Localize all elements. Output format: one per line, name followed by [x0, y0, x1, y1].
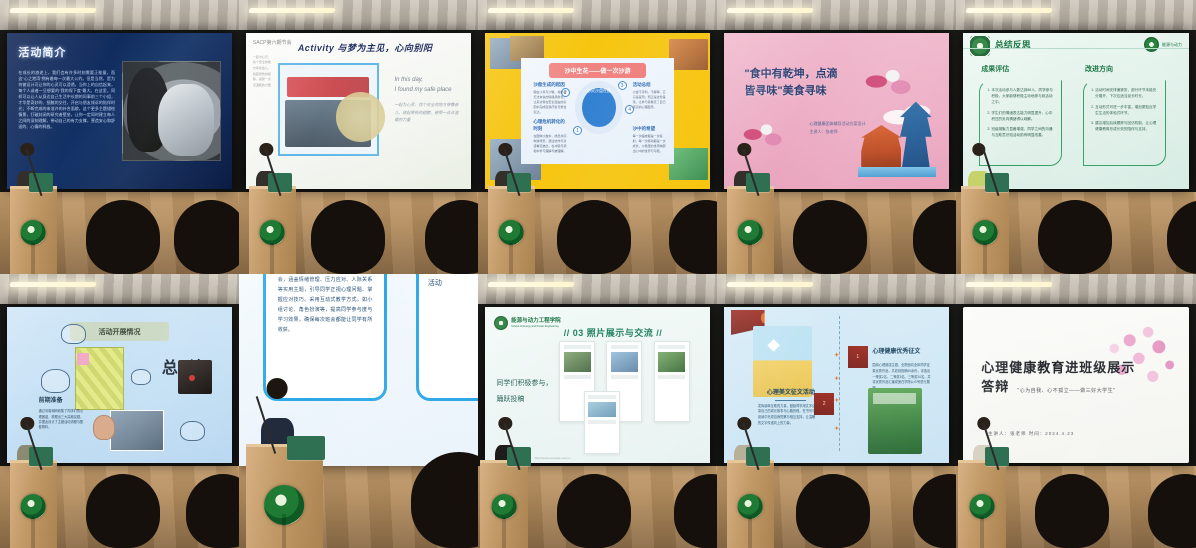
- projection-screen-3: 沙中生花——做一次沙游 心灵沙盘社团 1 2 3 4 沙盘生成的起因借由沙具与沙…: [485, 33, 710, 189]
- content-card: 开展活动: [416, 274, 478, 401]
- timeline-heading: 心理健康优秀征文: [872, 346, 920, 355]
- slide-side-column: 一起为心灵，找个安全的地方停靠会儿，收起受伤的翅膀，感受一点点温暖的力量: [253, 55, 273, 89]
- post-screenshot: [584, 391, 620, 453]
- cats-photo: [122, 61, 221, 161]
- university-crest-icon: [738, 220, 763, 245]
- projection-screen-4: "食中有乾坤，点滴皆寻味"美食寻味 心理健康团体辅导活动方案设计主讲人：张老师: [724, 33, 949, 189]
- podium: [958, 460, 1006, 548]
- slide-pill-title: 沙中生花——做一次沙游: [549, 63, 647, 78]
- projection-screen-9: 1 2 心理健康优秀征文 围绕心理健康主题，全院面向全体同学征集优秀作品，共收到…: [724, 307, 949, 463]
- university-crest-icon: [492, 494, 517, 519]
- circle-overlay: [336, 92, 385, 141]
- university-crest-icon: [1144, 37, 1159, 52]
- collage-photo-9[interactable]: 1 2 心理健康优秀征文 围绕心理健康主题，全院面向全体同学征集优秀作品，共收到…: [717, 274, 956, 548]
- process-block: 沙中的希望每一次摆放都是一次投射，每一次移动都是一次成长，沙箱里的世界映照出心中…: [633, 125, 667, 153]
- footer-url: http://www.example.edu.cn: [535, 456, 571, 460]
- slide-body-text: 在成长的旅途上，我们会有许多时刻需要正能量，而这“心之港湾”拥有着每一次最大公约…: [18, 70, 115, 130]
- podium: [249, 186, 297, 274]
- podium: [488, 186, 536, 274]
- doodle-icon: [180, 421, 205, 441]
- process-block: 心理危机转化的时刻在团体沙盘中，成员共同构建场景，通过协作与对话看见彼此，在冲突…: [533, 118, 567, 154]
- photo-collage-grid: 活动简介 在成长的旅途上，我们会有许多时刻需要正能量，而这“心之港湾”拥有着每一…: [0, 0, 1196, 548]
- projection-screen-10: 心理健康教育进班级展示答辩 "心为自我、心不孤立——做三好大学生" 主讲人：张老…: [963, 307, 1189, 463]
- slide-meta: 主讲人：张老师 时间：2024.4.23: [988, 431, 1074, 437]
- slide-note: 前期准备通过问卷调研收集了同学们的心理困惑，梳理出三大高频议题，并据此设计了主题…: [39, 396, 84, 431]
- timeline-body: 发挥朋辈互助的力量，鼓励同学用文字记录自己的成长故事与心路历程，在书写与阅读中完…: [758, 404, 816, 427]
- podium: [961, 186, 1009, 274]
- doodle-icon: [131, 369, 151, 385]
- university-crest-icon: [738, 494, 763, 519]
- slide-corner-label: SACP第六期节会: [253, 39, 292, 46]
- doodle-icon: [41, 369, 70, 392]
- university-crest-icon: [21, 494, 46, 519]
- university-crest-icon: [970, 36, 990, 56]
- projection-screen-2: SACP第六期节会 一起为心灵，找个安全的地方停靠会儿，收起受伤的翅膀，感受一点…: [246, 33, 471, 189]
- classroom-activity-photo: [110, 410, 164, 451]
- slide-title: 活动简介: [18, 44, 66, 60]
- column-heading: 成果评估: [981, 64, 1009, 74]
- slide-lead-text: 同学们积极参与，踊跃投稿: [496, 376, 552, 410]
- doodle-icon: [61, 324, 86, 344]
- slide-right-text: In this day, I found my safe place 一起为心灵…: [394, 75, 461, 123]
- university-crest-icon: [972, 220, 997, 245]
- collage-photo-10[interactable]: 心理健康教育进班级展示答辩 "心为自我、心不孤立——做三好大学生" 主讲人：张老…: [956, 274, 1196, 548]
- laptop: [287, 436, 325, 461]
- slide-subtitle: 心理健康团体辅导活动方案设计主讲人：张老师: [810, 120, 866, 135]
- slide-title: // 03 照片展示与交流 //: [564, 326, 663, 339]
- podium: [10, 460, 58, 548]
- university-crest-icon: [499, 220, 524, 245]
- projection-screen-5: 总结反思 能源与动力 成果评估 改进方向 本次活动参与人数达到88人，同学参与积…: [963, 33, 1189, 189]
- process-block: 沙盘生成的起因借由沙具与沙箱，将内在无法言说的情绪具象化，让来访者在安全自由的氛…: [533, 81, 567, 114]
- temple-illustration: [861, 98, 933, 176]
- brand-mark: 能源与动力: [1144, 36, 1182, 53]
- projection-screen-6: 活动开展情况 总结 前期准备通过问卷调研收集了同学们的心理困惑，梳理出三大高频议…: [7, 307, 232, 463]
- university-crest-icon: [494, 316, 508, 330]
- school-logo: 能源与动力工程学院 School of Energy and Power Eng…: [494, 316, 561, 330]
- clown-nose-portrait-photo: [178, 360, 212, 394]
- slide-inner-panel: 沙中生花——做一次沙游 心灵沙盘社团 1 2 3 4 沙盘生成的起因借由沙具与沙…: [521, 58, 674, 164]
- university-crest-icon: [21, 220, 46, 245]
- collage-photo-8[interactable]: 能源与动力工程学院 School of Energy and Power Eng…: [478, 274, 717, 548]
- improvement-box: 活动时间安排偏紧张，部分环节未能充分展开，下次应适当延长时长。 互动形式可进一步…: [1083, 80, 1166, 166]
- doodle-icon: [93, 415, 115, 440]
- surrounding-photo: [669, 39, 707, 70]
- center-ring-label: 心灵沙盘社团: [582, 88, 616, 128]
- projection-screen-8: 能源与动力工程学院 School of Energy and Power Eng…: [485, 307, 710, 463]
- podium: [10, 186, 58, 274]
- collage-photo-4[interactable]: "食中有乾坤，点滴皆寻味"美食寻味 心理健康团体辅导活动方案设计主讲人：张老师: [717, 0, 956, 274]
- column-heading: 改进方向: [1085, 64, 1113, 74]
- university-crest-icon: [970, 494, 995, 519]
- projection-screen-1: 活动简介 在成长的旅途上，我们会有许多时刻需要正能量，而这“心之港湾”拥有着每一…: [7, 33, 232, 189]
- collage-photo-1[interactable]: 活动简介 在成长的旅途上，我们会有许多时刻需要正能量，而这“心之港湾”拥有着每一…: [0, 0, 239, 274]
- step-node: 3: [618, 81, 627, 90]
- collage-photo-2[interactable]: SACP第六期节会 一起为心灵，找个安全的地方停靠会儿，收起受伤的翅膀，感受一点…: [239, 0, 478, 274]
- slide-subtitle: "心为自我、心不孤立——做三好大学生": [1017, 387, 1115, 394]
- post-screenshot: [654, 341, 690, 422]
- university-crest-icon: [260, 220, 285, 245]
- collage-photo-5[interactable]: 总结反思 能源与动力 成果评估 改进方向 本次活动参与人数达到88人，同学参与积…: [956, 0, 1196, 274]
- collage-photo-3[interactable]: 沙中生花——做一次沙游 心灵沙盘社团 1 2 3 4 沙盘生成的起因借由沙具与沙…: [478, 0, 717, 274]
- surrounding-photo: [669, 148, 707, 179]
- collage-photo-7[interactable]: 围绕心理系列并组织12次心理健康主题班会，涵盖情绪管理、压力应对、人际关系等实用…: [239, 274, 478, 548]
- outdoor-activity-poster: [868, 388, 922, 454]
- timeline-heading: 心理美文征文活动: [767, 387, 815, 396]
- summary-box: 本次活动参与人数达到88人，同学参与积极，大家能够积极主动地参与到活动之中。 学…: [979, 80, 1062, 166]
- podium: [727, 186, 775, 274]
- podium: [480, 460, 528, 548]
- timeline-number: 2: [814, 393, 834, 415]
- collage-photo-6[interactable]: 活动开展情况 总结 前期准备通过问卷调研收集了同学们的心理困惑，梳理出三大高频议…: [0, 274, 239, 548]
- timeline-number: 1: [848, 346, 868, 368]
- process-block: 活动总结沙盘不评判、不解释，它只是呈现；而正是这份呈现，让参与者看见了自己真实的…: [633, 81, 667, 109]
- slide-handwritten-title: Activity 与梦为主见，心向别阳: [298, 41, 433, 54]
- podium: [727, 460, 775, 548]
- step-node: 1: [573, 126, 582, 135]
